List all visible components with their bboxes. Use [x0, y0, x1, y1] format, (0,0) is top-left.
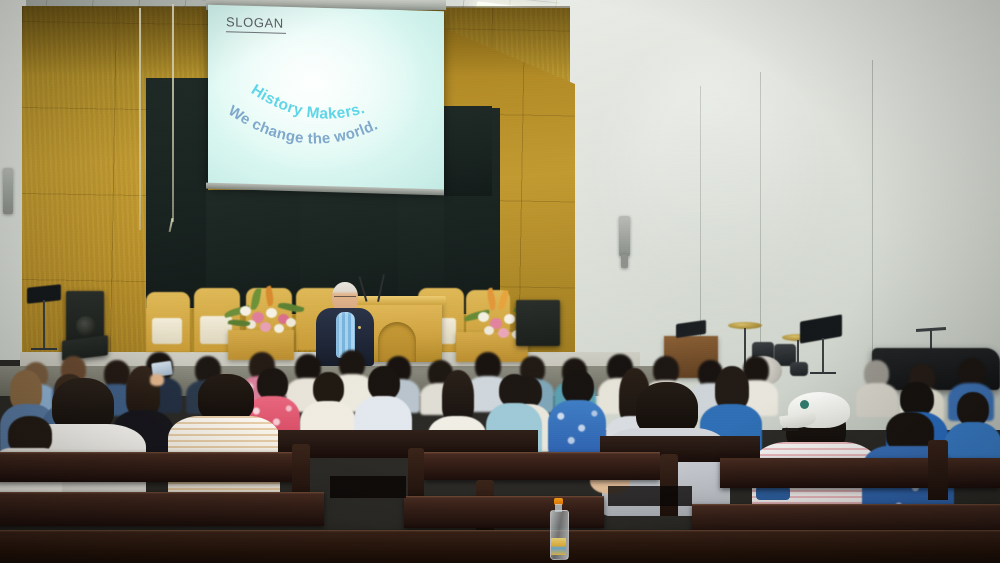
music-stand-left-pole	[43, 300, 45, 348]
pew-edge-highlight	[0, 452, 296, 454]
head	[442, 370, 474, 422]
petal	[266, 308, 277, 318]
leaf	[251, 288, 262, 311]
acoustic-panel-left	[146, 78, 208, 308]
music-stand-left-base	[31, 348, 57, 350]
pew-divider-4	[928, 440, 948, 500]
pew-gap-1	[330, 476, 406, 498]
pew-row-mid-right	[424, 452, 660, 480]
hanging-cord-left	[139, 8, 141, 230]
hand-holding-phone	[150, 374, 164, 386]
flower-arrangement-left	[222, 286, 306, 338]
stage-chair-1-cushion	[152, 318, 182, 344]
torso	[548, 400, 606, 454]
acoustic-panel-upper-right	[444, 106, 492, 196]
cap-logo	[800, 400, 809, 409]
wall-speaker-right	[619, 216, 630, 256]
head	[900, 382, 934, 416]
pew-edge-highlight	[0, 492, 324, 494]
petal	[274, 324, 284, 333]
pew-row-mid-left	[0, 452, 296, 482]
floral-pattern	[548, 400, 606, 454]
leaf	[278, 301, 305, 315]
polo-sleeve-trim	[756, 486, 790, 500]
pew-gap-2	[608, 486, 692, 506]
pew-row-closest	[0, 530, 1000, 563]
pew-edge-highlight	[424, 452, 660, 454]
pew-edge-highlight-closest	[0, 530, 1000, 532]
petal	[484, 326, 494, 335]
attendee-blue-floral-blouse	[548, 370, 606, 450]
glasses-arm	[782, 428, 798, 431]
slide-arc-text: History Makers. We change the world.	[208, 51, 444, 168]
hanging-cord-right	[172, 4, 174, 222]
leaf	[498, 290, 508, 311]
head	[368, 366, 400, 400]
leaf	[485, 287, 497, 310]
head	[562, 370, 594, 404]
head	[198, 374, 254, 422]
pew-row-mid-far-right	[720, 458, 1000, 488]
slide-title: SLOGAN	[226, 14, 284, 31]
pew-edge-highlight	[692, 504, 1000, 506]
speaker-glasses	[334, 296, 356, 301]
projector-screen: SLOGAN History Makers. We change the wor…	[208, 5, 444, 194]
stage-monitor-display-right	[516, 300, 560, 346]
petal	[504, 314, 515, 324]
petal	[260, 322, 271, 332]
petal	[240, 306, 251, 316]
water-bottle	[548, 498, 568, 560]
music-stand-band-base	[810, 372, 836, 374]
drum-snare	[790, 362, 808, 376]
bottle-label	[551, 538, 566, 555]
wall-speaker-left	[3, 168, 13, 214]
wall-bracket-right	[621, 254, 628, 268]
wall-light-pool	[620, 60, 800, 290]
petal	[478, 312, 489, 322]
pew-divider-3	[660, 454, 678, 516]
petal	[498, 328, 509, 338]
leaf	[264, 285, 275, 306]
petal	[286, 318, 296, 327]
speaker-cone-left	[76, 316, 96, 336]
head	[957, 392, 989, 426]
speaker-lapel-pin	[358, 326, 361, 329]
pew-row-near-left	[0, 492, 324, 526]
slide-line-1: History Makers.	[248, 81, 367, 124]
pew-edge-highlight	[404, 496, 604, 498]
music-stand-band-pole	[822, 338, 824, 372]
pew-row-near-center	[404, 496, 604, 528]
photo-scene: SLOGAN History Makers. We change the wor…	[0, 0, 1000, 563]
